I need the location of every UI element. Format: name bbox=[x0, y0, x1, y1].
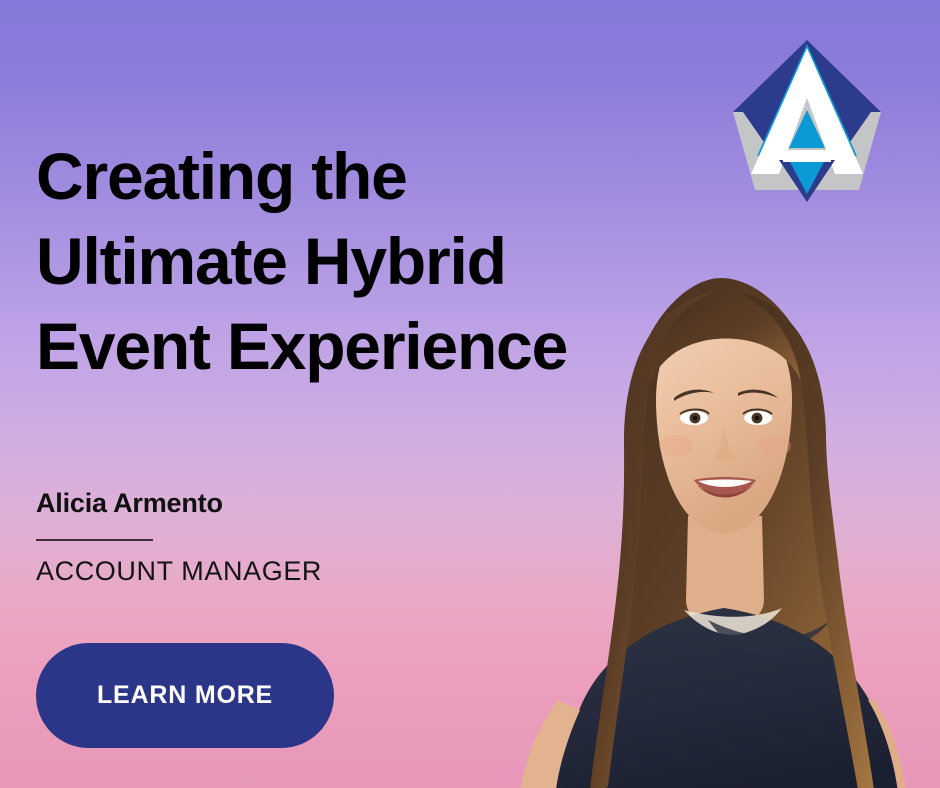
speaker-role: ACCOUNT MANAGER bbox=[36, 556, 322, 587]
learn-more-button[interactable]: LEARN MORE bbox=[36, 643, 334, 748]
divider bbox=[36, 539, 153, 541]
promo-card: Creating the Ultimate Hybrid Event Exper… bbox=[0, 0, 940, 788]
speaker-name: Alicia Armento bbox=[36, 488, 223, 519]
company-gem-logo bbox=[731, 38, 883, 204]
page-title: Creating the Ultimate Hybrid Event Exper… bbox=[36, 134, 636, 389]
